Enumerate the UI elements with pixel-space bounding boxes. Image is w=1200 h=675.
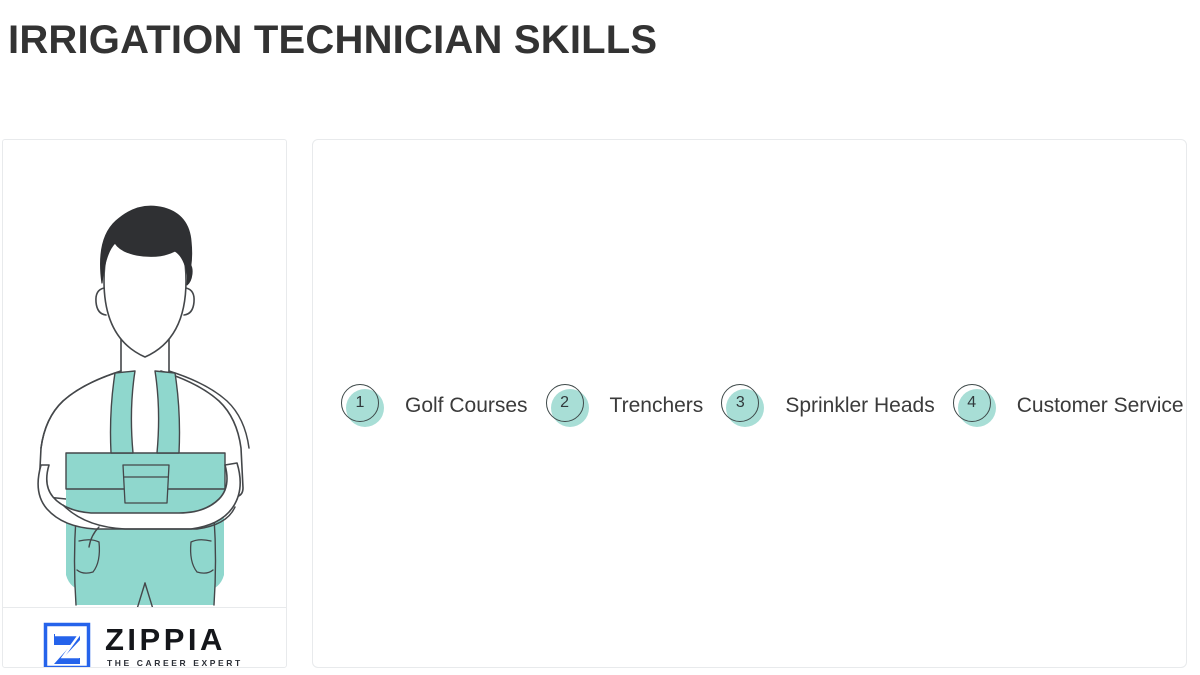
logo-divider	[3, 607, 286, 608]
illustration-panel: ZIPPIA THE CAREER EXPERT	[2, 139, 287, 668]
badge-number: 3	[721, 384, 759, 422]
zippia-wordmark: ZIPPIA	[105, 624, 243, 656]
badge-number: 4	[953, 384, 991, 422]
skill-item-4[interactable]: 4 Customer Service	[953, 172, 1184, 639]
skills-list: 1 Golf Courses 2 Trenchers 3 Sprinkle	[313, 140, 1186, 667]
skill-label: Golf Courses	[405, 393, 528, 419]
skills-card: 1 Golf Courses 2 Trenchers 3 Sprinkle	[312, 139, 1187, 668]
skill-label: Sprinkler Heads	[785, 393, 934, 419]
rank-badge-4: 4	[953, 384, 997, 428]
zippia-logo-icon	[43, 622, 91, 668]
technician-illustration	[3, 139, 287, 608]
badge-number: 1	[341, 384, 379, 422]
rank-badge-2: 2	[546, 384, 590, 428]
rank-badge-3: 3	[721, 384, 765, 428]
rank-badge-1: 1	[341, 384, 385, 428]
skill-item-2[interactable]: 2 Trenchers	[546, 172, 704, 639]
zippia-tagline: THE CAREER EXPERT	[107, 657, 243, 669]
zippia-logo[interactable]: ZIPPIA THE CAREER EXPERT	[43, 622, 243, 668]
skill-item-1[interactable]: 1 Golf Courses	[341, 172, 528, 639]
skill-item-3[interactable]: 3 Sprinkler Heads	[721, 172, 934, 639]
skill-label: Customer Service	[1017, 393, 1184, 419]
badge-number: 2	[546, 384, 584, 422]
skill-label: Trenchers	[610, 393, 704, 419]
zippia-logo-text: ZIPPIA THE CAREER EXPERT	[105, 624, 243, 669]
page-title: IRRIGATION TECHNICIAN SKILLS	[8, 16, 657, 64]
infographic-page: IRRIGATION TECHNICIAN SKILLS	[0, 0, 1200, 675]
